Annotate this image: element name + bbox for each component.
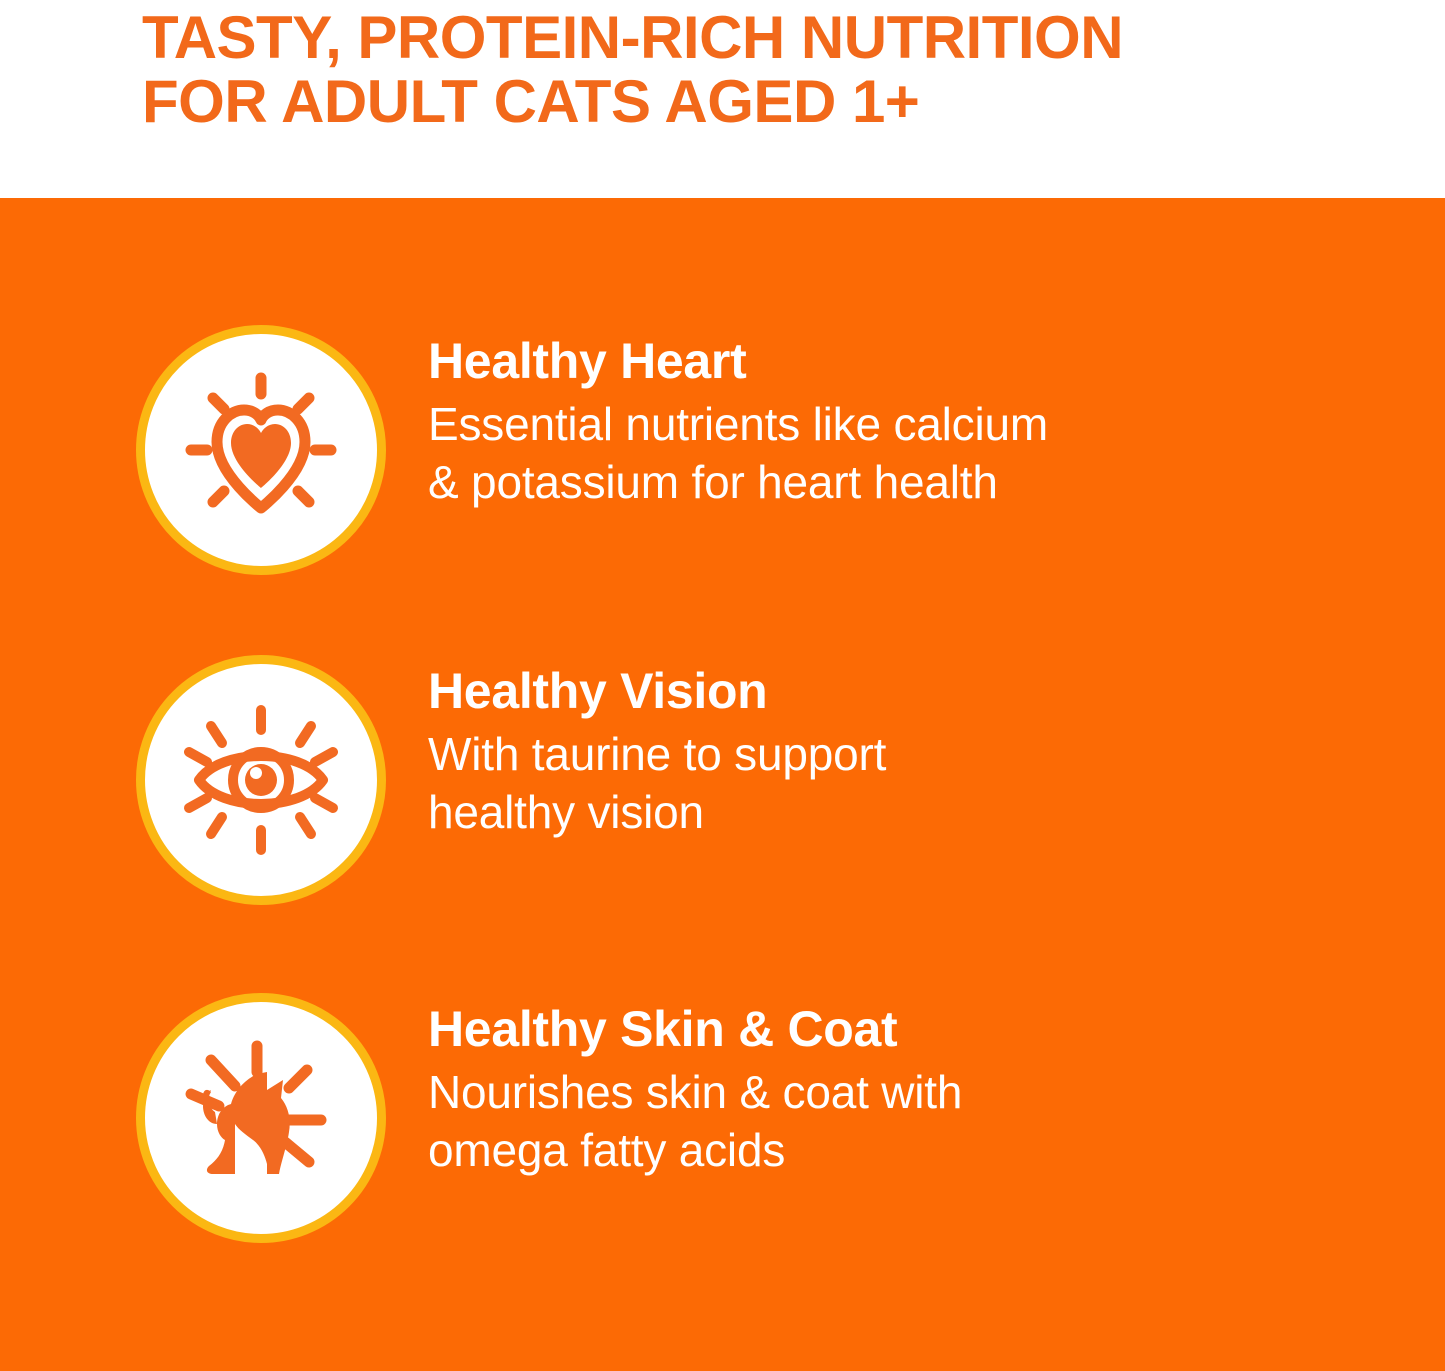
benefit-description: Essential nutrients like calcium & potas… xyxy=(428,395,1408,511)
header-band: TASTY, PROTEIN-RICH NUTRITION FOR ADULT … xyxy=(0,0,1445,198)
page-title: TASTY, PROTEIN-RICH NUTRITION FOR ADULT … xyxy=(142,6,1372,134)
benefit-text-block: Healthy Vision With taurine to support h… xyxy=(428,663,1408,841)
benefit-title: Healthy Skin & Coat xyxy=(428,1001,1408,1057)
benefit-description: With taurine to support healthy vision xyxy=(428,725,1408,841)
benefit-icon-badge xyxy=(136,655,386,905)
benefit-text-block: Healthy Heart Essential nutrients like c… xyxy=(428,333,1408,511)
radiant-eye-icon xyxy=(171,690,351,870)
benefit-title: Healthy Heart xyxy=(428,333,1408,389)
benefit-icon-badge xyxy=(136,993,386,1243)
benefit-text-block: Healthy Skin & Coat Nourishes skin & coa… xyxy=(428,1001,1408,1179)
radiant-heart-icon xyxy=(171,360,351,540)
product-benefits-infographic: TASTY, PROTEIN-RICH NUTRITION FOR ADULT … xyxy=(0,0,1445,1371)
radiant-cat-icon xyxy=(171,1028,351,1208)
benefit-description: Nourishes skin & coat with omega fatty a… xyxy=(428,1063,1408,1179)
benefit-title: Healthy Vision xyxy=(428,663,1408,719)
benefit-icon-badge xyxy=(136,325,386,575)
